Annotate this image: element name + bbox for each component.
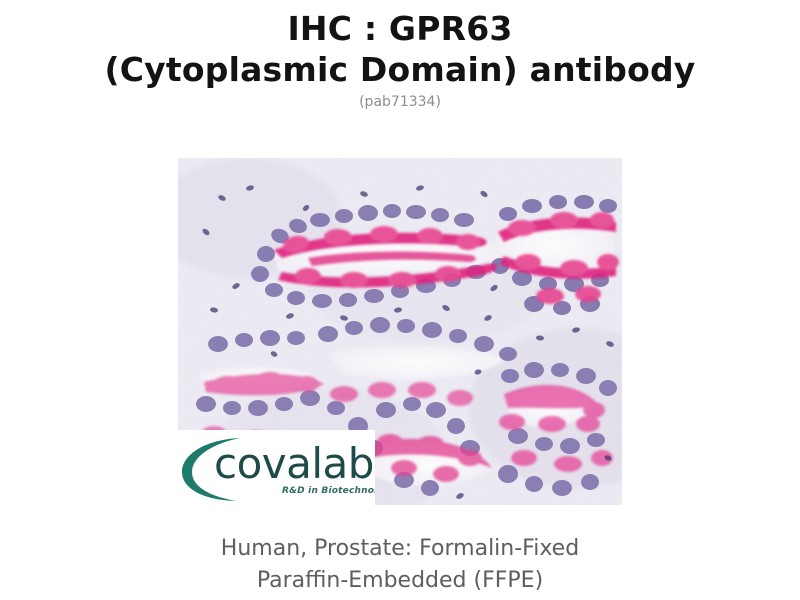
catalog-number: (pab71334) bbox=[0, 92, 800, 112]
logo-tagline: R&D in Biotechnology bbox=[282, 486, 375, 496]
caption-line-1: Human, Prostate: Formalin-Fixed bbox=[0, 533, 800, 565]
covalab-logo-watermark: covalab R&D in Biotechnology bbox=[178, 430, 375, 505]
figure-caption: Human, Prostate: Formalin-Fixed Paraffin… bbox=[0, 533, 800, 597]
title-line-2: (Cytoplasmic Domain) antibody bbox=[0, 49, 800, 90]
page-title: IHC : GPR63 (Cytoplasmic Domain) antibod… bbox=[0, 0, 800, 112]
logo-wordmark: covalab bbox=[214, 442, 374, 486]
title-line-1: IHC : GPR63 bbox=[0, 8, 800, 49]
caption-line-2: Paraffin-Embedded (FFPE) bbox=[0, 565, 800, 597]
